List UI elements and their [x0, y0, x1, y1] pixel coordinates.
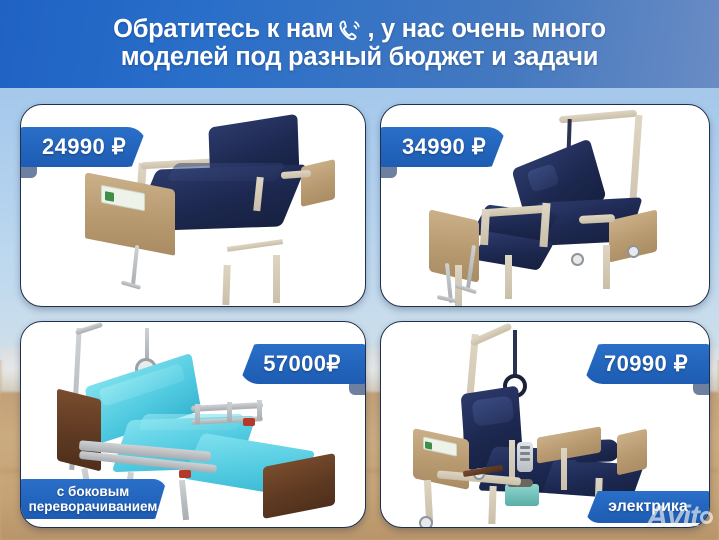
phone-call-icon	[337, 18, 363, 44]
price-text: 24990 ₽	[42, 134, 126, 160]
price-banner: 24990 ₽	[20, 127, 147, 167]
feature-tag-line-2: переворачиванием	[29, 499, 158, 514]
avito-watermark-text: Avit	[646, 500, 699, 534]
bed-leg	[603, 245, 610, 289]
rail-release-lever	[243, 418, 255, 426]
feature-tag-lateral-turning: с боковым переворачиванием	[20, 479, 167, 519]
bed-rail-strut	[227, 402, 232, 422]
avito-watermark: Avit	[646, 500, 713, 534]
headboard-label-cross-icon	[105, 191, 114, 202]
caster-wheel	[571, 253, 584, 266]
lift-strap-rod	[145, 328, 149, 362]
product-card-bed-with-lift-pole[interactable]: 34990 ₽	[380, 104, 710, 307]
price-text: 34990 ₽	[402, 134, 486, 160]
bed-lift-leg	[179, 480, 189, 520]
remote-button	[520, 446, 530, 449]
bedpan-container	[505, 484, 539, 506]
product-card-grid: 24990 ₽	[20, 104, 710, 532]
headboard-wood-left	[413, 428, 469, 490]
price-text: 70990 ₽	[604, 351, 688, 377]
promo-header-banner: Обратитесь к нам , у нас очень много мод…	[0, 0, 719, 88]
avito-watermark-o-glyph	[700, 511, 713, 524]
bed-leg	[505, 255, 512, 299]
footboard-wood-right	[617, 429, 647, 476]
header-line-2: моделей под разный бюджет и задачи	[121, 44, 598, 72]
feature-tag-line-1: с боковым	[57, 484, 129, 499]
product-card-bed-electric[interactable]: 70990 ₽ электрика	[380, 321, 710, 528]
header-line-1-text-after-icon: , у нас очень много	[367, 16, 605, 44]
price-text: 57000₽	[263, 351, 341, 377]
bed-leg	[273, 255, 280, 303]
lift-pole-arm	[75, 322, 103, 335]
bed-leg-brace	[227, 239, 283, 252]
header-line-1: Обратитесь к нам , у нас очень много	[113, 16, 606, 44]
bed-leg	[222, 265, 230, 305]
lift-strap	[513, 330, 517, 378]
caster-wheel	[627, 245, 640, 258]
crank-handle-rod	[131, 245, 139, 287]
caster-wheel	[419, 516, 433, 528]
price-banner: 70990 ₽	[583, 344, 710, 384]
tray-support-post	[561, 448, 567, 490]
mattress-highlight	[167, 163, 286, 181]
remote-button	[520, 458, 530, 461]
bed-rail-strut	[257, 400, 262, 420]
bed-leg	[488, 486, 496, 524]
product-card-bed-lateral-turning[interactable]: 57000₽ с боковым переворачиванием	[20, 321, 366, 528]
price-banner: 34990 ₽	[380, 127, 507, 167]
bed-rail-strut	[195, 404, 200, 424]
remote-button	[520, 452, 530, 455]
product-card-bed-manual-basic[interactable]: 24990 ₽	[20, 104, 366, 307]
frame-release-lever	[179, 470, 191, 478]
price-banner: 57000₽	[239, 344, 366, 384]
headboard-label-cross-icon	[425, 441, 432, 449]
header-line-1-text-before-icon: Обратитесь к нам	[113, 16, 333, 44]
footboard-wood-right	[301, 159, 335, 207]
